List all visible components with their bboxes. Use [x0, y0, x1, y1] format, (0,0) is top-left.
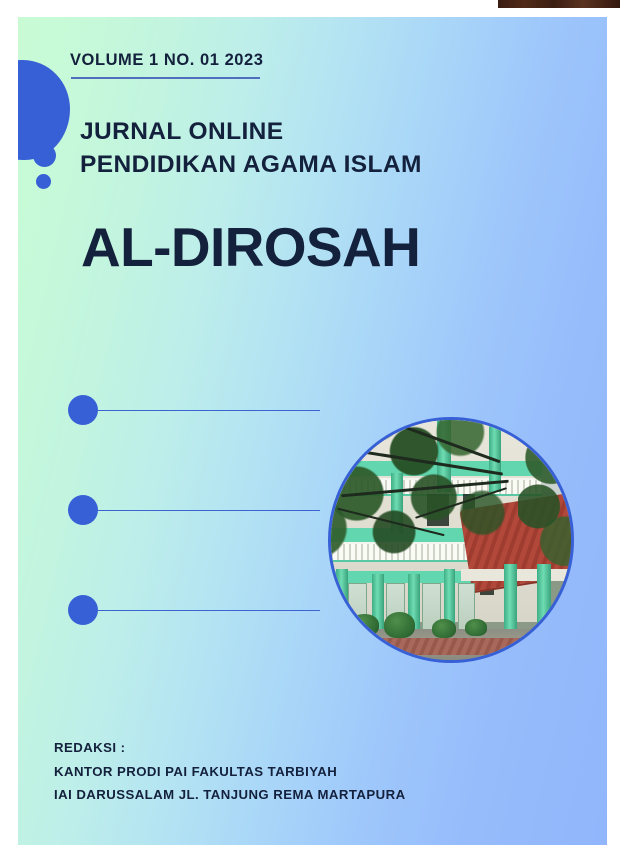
bullet-dot-icon — [68, 495, 98, 525]
photo-shrub — [350, 614, 379, 636]
volume-underline-divider — [71, 77, 260, 79]
blob-small-icon — [33, 144, 56, 167]
marker-rule-divider — [98, 510, 320, 511]
subtitle-line-1: JURNAL ONLINE — [80, 116, 580, 149]
photo-walkway — [344, 638, 534, 655]
campus-building-photo — [328, 417, 574, 663]
journal-subtitle: JURNAL ONLINE PENDIDIKAN AGAMA ISLAM — [80, 116, 580, 181]
marker-rule-divider — [98, 410, 320, 411]
journal-title: AL-DIROSAH — [81, 215, 420, 279]
editorial-address-block: REDAKSI : KANTOR PRODI PAI FAKULTAS TARB… — [54, 736, 574, 807]
photo-shrub — [432, 619, 456, 638]
redaksi-line-2: IAI DARUSSALAM JL. TANJUNG REMA MARTAPUR… — [54, 783, 574, 807]
redaksi-heading: REDAKSI : — [54, 736, 574, 760]
photo-tree-canopy — [328, 417, 509, 578]
photo-shrub — [384, 612, 415, 638]
subtitle-line-2: PENDIDIKAN AGAMA ISLAM — [80, 149, 580, 182]
clipped-image-strip — [498, 0, 620, 8]
redaksi-line-1: KANTOR PRODI PAI FAKULTAS TARBIYAH — [54, 760, 574, 784]
page-canvas: VOLUME 1 NO. 01 2023 JURNAL ONLINE PENDI… — [0, 0, 625, 853]
bullet-dot-icon — [68, 595, 98, 625]
blob-dot-icon — [36, 174, 51, 189]
marker-rule-divider — [98, 610, 320, 611]
bullet-dot-icon — [68, 395, 98, 425]
volume-issue-text: VOLUME 1 NO. 01 2023 — [70, 51, 264, 70]
photo-foliage — [518, 430, 574, 569]
journal-cover: VOLUME 1 NO. 01 2023 JURNAL ONLINE PENDI… — [18, 17, 607, 845]
photo-shrub — [465, 619, 487, 636]
